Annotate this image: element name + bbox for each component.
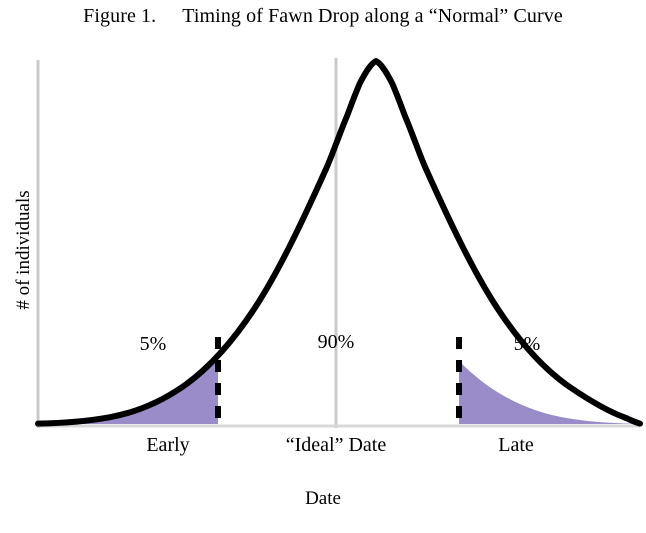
early-percent-label: 5% xyxy=(113,332,193,356)
late-percent-label: 5% xyxy=(487,332,567,356)
x-tick-label-ideal-date: “Ideal” Date xyxy=(256,433,416,457)
x-axis-title: Date xyxy=(0,487,646,511)
x-tick-label-late: Late xyxy=(456,433,576,457)
y-axis-title: # of individuals xyxy=(13,140,35,360)
chart-plot-area: 5% 90% 5% Early “Ideal” Date Late # of i… xyxy=(0,0,646,533)
x-tick-label-early: Early xyxy=(108,433,228,457)
normal-distribution-curve xyxy=(38,61,640,424)
central-percent-label: 90% xyxy=(286,330,386,354)
